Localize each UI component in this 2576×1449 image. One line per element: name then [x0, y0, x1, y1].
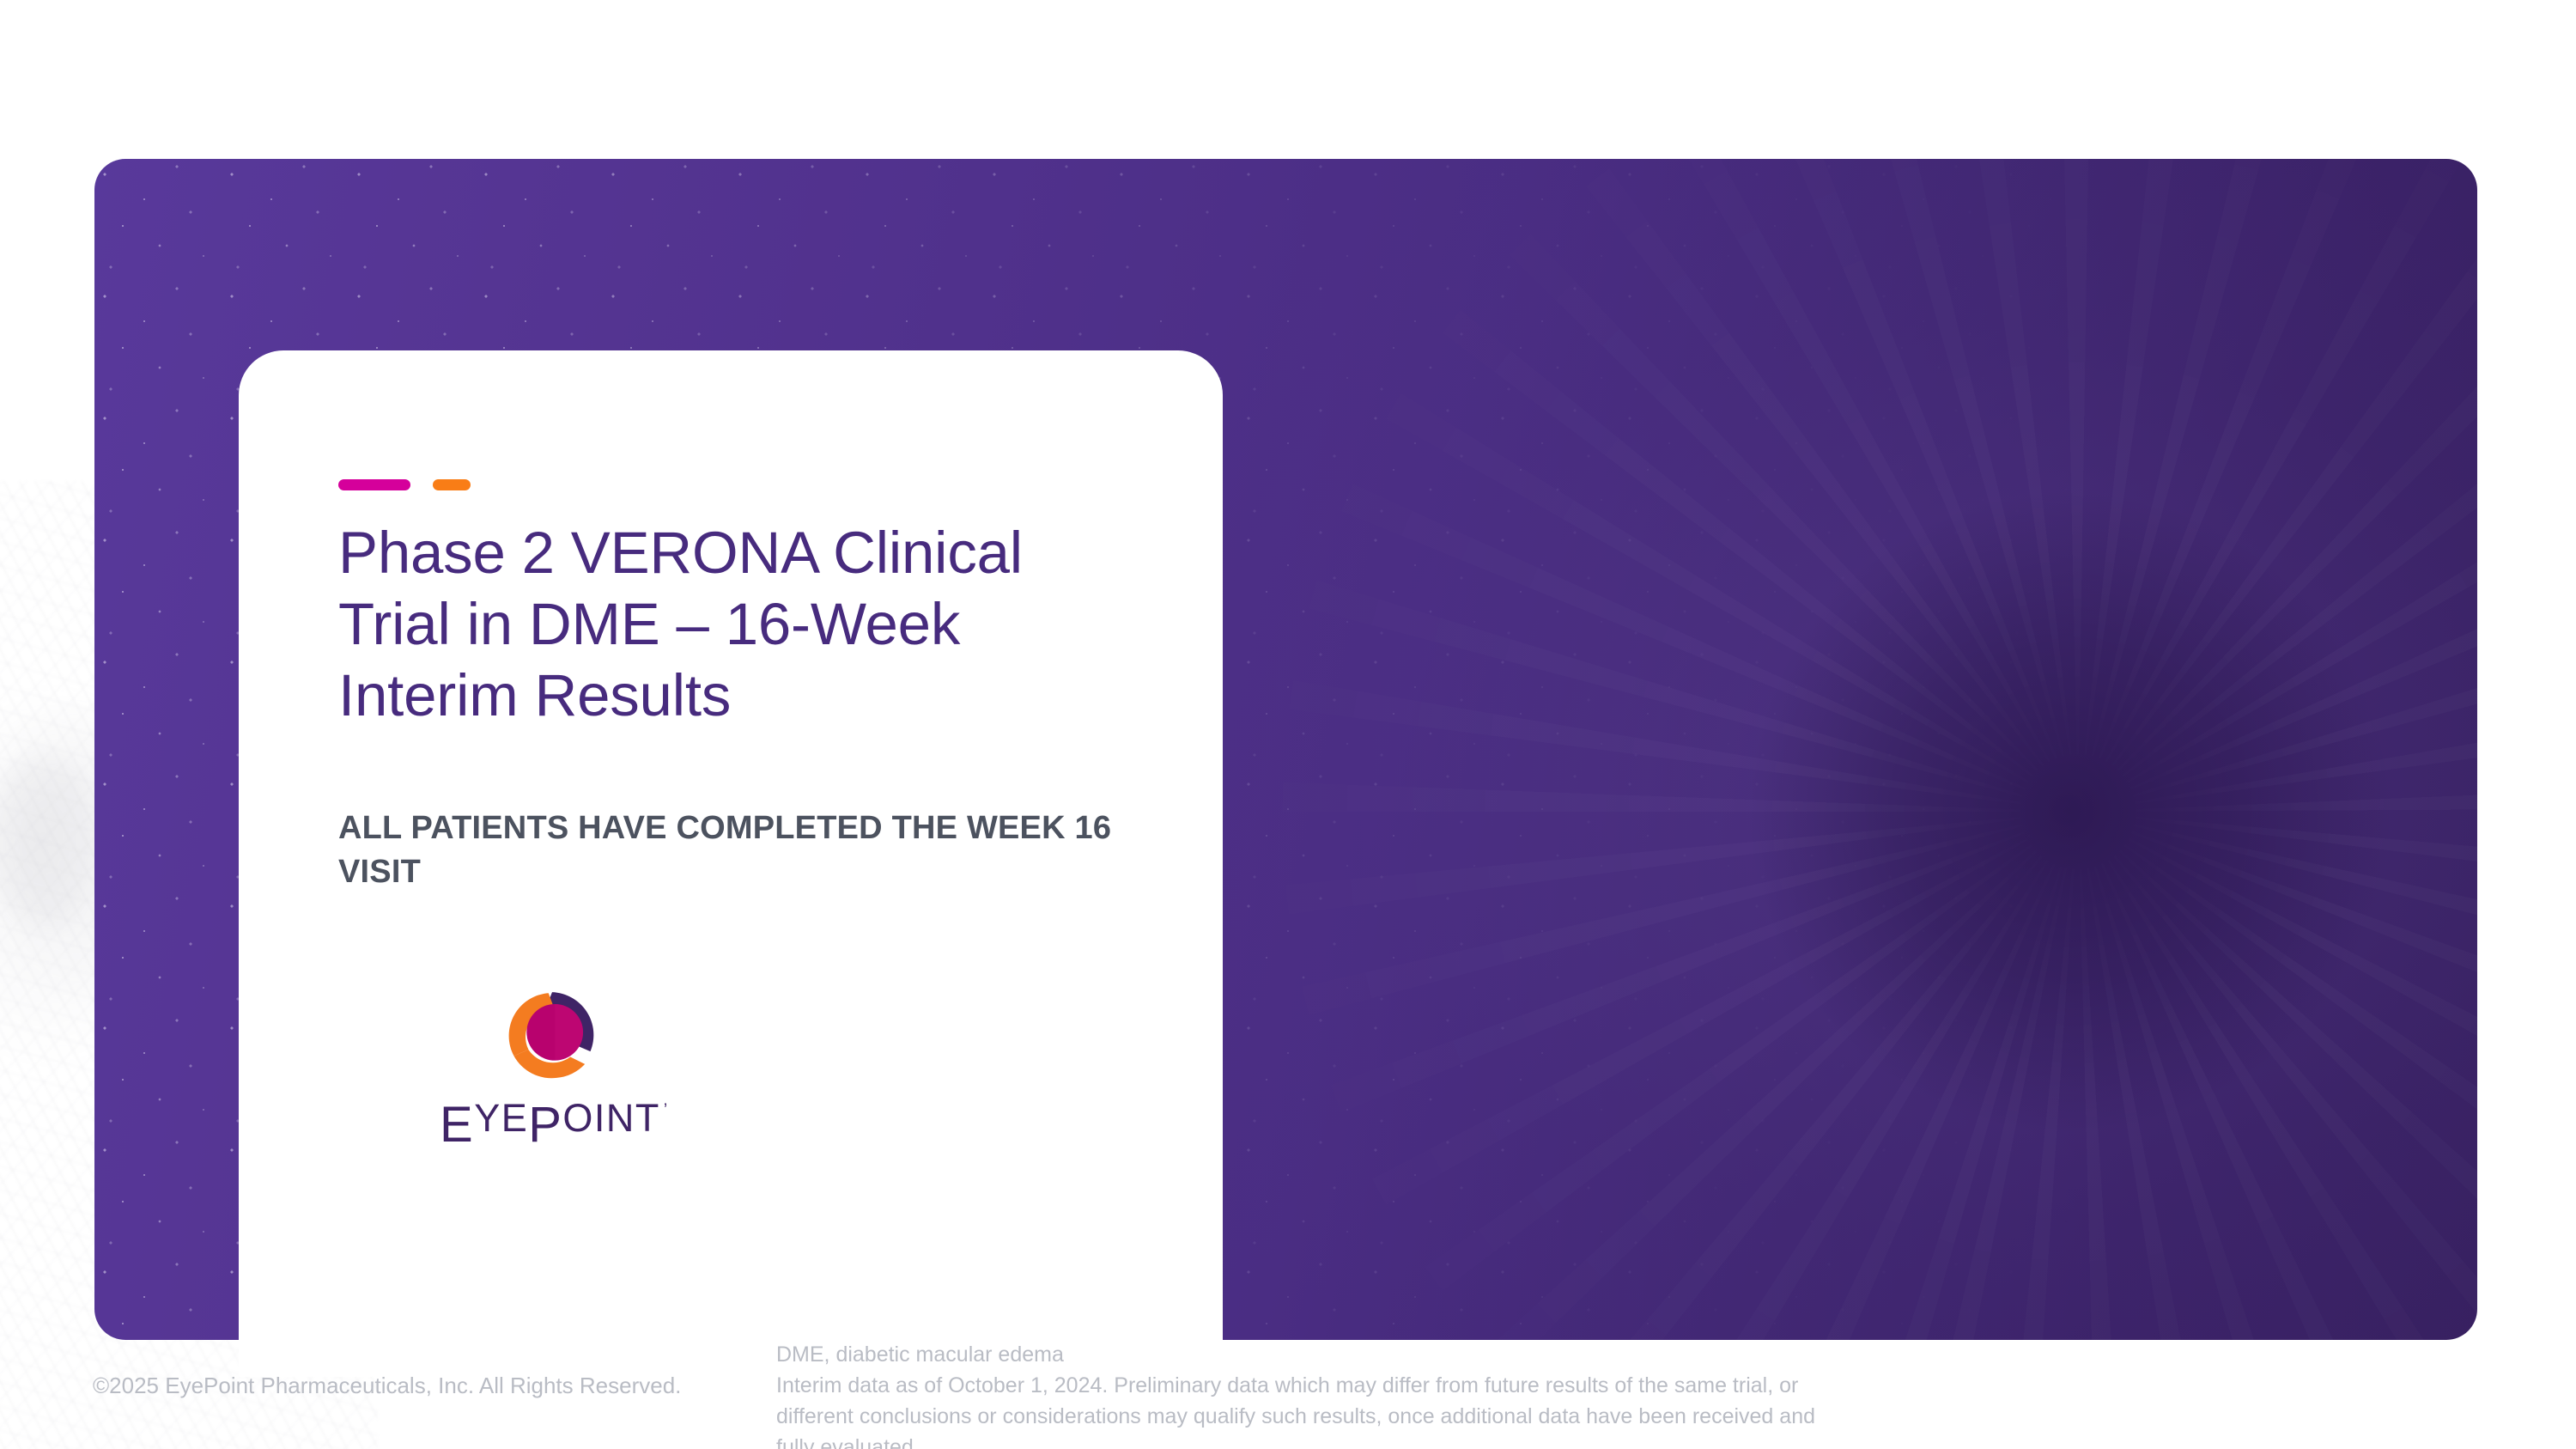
wordmark-oint: OINT [562, 1096, 660, 1141]
eyepoint-wordmark: E YE P OINT ’ [440, 1096, 749, 1154]
title-content-card: Phase 2 VERONA Clinical Trial in DME – 1… [239, 350, 1223, 1377]
eyepoint-logo: E YE P OINT ’ [440, 989, 749, 1154]
presentation-slide: Phase 2 VERONA Clinical Trial in DME – 1… [0, 0, 2576, 1449]
eyepoint-circle-mark-icon [507, 989, 598, 1081]
disclaimer-text: Interim data as of October 1, 2024. Prel… [776, 1370, 1850, 1449]
page-title: Phase 2 VERONA Clinical Trial in DME – 1… [338, 518, 1111, 731]
accent-dash-orange-icon [433, 479, 471, 490]
slide-subtitle: ALL PATIENTS HAVE COMPLETED THE WEEK 16 … [338, 807, 1171, 893]
wordmark-e: E [440, 1096, 474, 1154]
accent-dashes [338, 479, 1171, 490]
card-inner-content: Phase 2 VERONA Clinical Trial in DME – 1… [338, 479, 1171, 1154]
abbreviation-note: DME, diabetic macular edema [776, 1339, 1850, 1370]
footnote-block: DME, diabetic macular edema Interim data… [776, 1339, 1850, 1449]
wordmark-ye: YE [474, 1096, 528, 1141]
trademark-icon: ’ [664, 1101, 667, 1120]
wordmark-p: P [528, 1096, 562, 1154]
accent-dash-magenta-icon [338, 479, 410, 490]
copyright-text: ©2025 EyePoint Pharmaceuticals, Inc. All… [93, 1373, 681, 1399]
